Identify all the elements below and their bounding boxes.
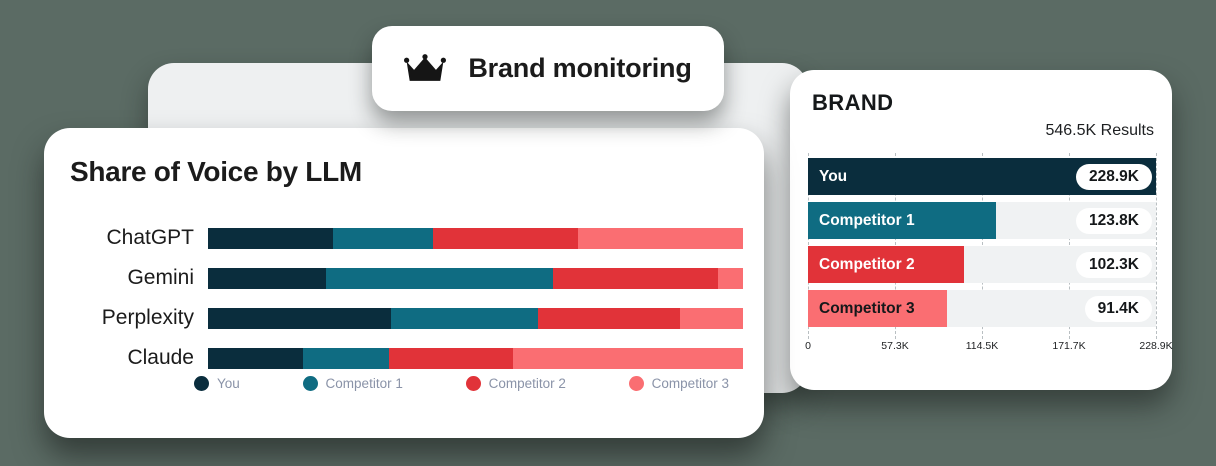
legend-color-dot xyxy=(466,376,481,391)
sov-bar-segment xyxy=(208,348,303,369)
sov-bar-segment xyxy=(718,268,743,289)
crown-icon xyxy=(404,54,446,84)
brand-row-label: Competitor 1 xyxy=(819,212,915,230)
brand-axis: 057.3K114.5K171.7K228.9K xyxy=(808,340,1156,358)
share-of-voice-card: Share of Voice by LLM ChatGPTGeminiPerpl… xyxy=(44,128,764,438)
sov-bar-segment xyxy=(208,268,326,289)
brand-bar-chart: You228.9KCompetitor 1123.8KCompetitor 21… xyxy=(808,158,1156,333)
sov-bar-segment xyxy=(208,228,333,249)
brand-row-value: 91.4K xyxy=(1085,296,1152,322)
sov-row: Perplexity xyxy=(44,298,764,338)
sov-row: Gemini xyxy=(44,258,764,298)
legend-item[interactable]: Competitor 2 xyxy=(466,376,566,391)
brand-row[interactable]: Competitor 2102.3K xyxy=(808,246,1156,283)
legend-color-dot xyxy=(629,376,644,391)
legend-label: You xyxy=(217,376,240,391)
legend-item[interactable]: Competitor 1 xyxy=(303,376,403,391)
brand-axis-tick: 57.3K xyxy=(881,340,908,352)
sov-bar-segment xyxy=(389,348,513,369)
sov-row-label: Gemini xyxy=(44,266,208,290)
sov-bar-segment xyxy=(303,348,389,369)
brand-row-value: 123.8K xyxy=(1076,208,1152,234)
brand-axis-tick: 0 xyxy=(805,340,811,352)
brand-row-label: Competitor 3 xyxy=(819,300,915,318)
brand-row-label: Competitor 2 xyxy=(819,256,915,274)
sov-bar-segment xyxy=(680,308,743,329)
sov-bar-segment xyxy=(513,348,743,369)
legend-item[interactable]: Competitor 3 xyxy=(629,376,729,391)
sov-row-label: ChatGPT xyxy=(44,226,208,250)
brand-card: BRAND 546.5K Results You228.9KCompetitor… xyxy=(790,70,1172,390)
legend-item[interactable]: You xyxy=(194,376,240,391)
sov-bar-segment xyxy=(578,228,743,249)
legend-label: Competitor 3 xyxy=(652,376,729,391)
legend-label: Competitor 2 xyxy=(489,376,566,391)
brand-monitoring-label: Brand monitoring xyxy=(468,53,691,84)
brand-axis-tick: 171.7K xyxy=(1052,340,1085,352)
legend-label: Competitor 1 xyxy=(326,376,403,391)
sov-row: Claude xyxy=(44,338,764,378)
sov-row: ChatGPT xyxy=(44,218,764,258)
brand-results-count: 546.5K Results xyxy=(1045,122,1154,140)
sov-row-label: Perplexity xyxy=(44,306,208,330)
brand-row[interactable]: Competitor 1123.8K xyxy=(808,202,1156,239)
sov-bar-segment xyxy=(326,268,553,289)
brand-row-label: You xyxy=(819,168,847,186)
sov-bar-segment xyxy=(433,228,578,249)
brand-row[interactable]: You228.9K xyxy=(808,158,1156,195)
sov-bar-segment xyxy=(553,268,718,289)
brand-row[interactable]: Competitor 391.4K xyxy=(808,290,1156,327)
brand-row-value: 102.3K xyxy=(1076,252,1152,278)
sov-stacked-bar xyxy=(208,268,743,289)
sov-stacked-bar xyxy=(208,348,743,369)
brand-axis-tick: 114.5K xyxy=(966,340,999,352)
sov-bar-segment xyxy=(391,308,538,329)
legend-color-dot xyxy=(303,376,318,391)
brand-gridline xyxy=(1156,153,1157,339)
sov-stacked-bar xyxy=(208,228,743,249)
sov-rows: ChatGPTGeminiPerplexityClaude xyxy=(44,218,764,378)
legend-color-dot xyxy=(194,376,209,391)
sov-row-label: Claude xyxy=(44,346,208,370)
sov-legend: YouCompetitor 1Competitor 2Competitor 3 xyxy=(194,376,739,391)
brand-card-title: BRAND xyxy=(812,90,893,116)
sov-bar-segment xyxy=(538,308,680,329)
brand-row-value: 228.9K xyxy=(1076,164,1152,190)
sov-bar-segment xyxy=(208,308,391,329)
sov-bar-segment xyxy=(333,228,433,249)
brand-monitoring-badge[interactable]: Brand monitoring xyxy=(372,26,724,111)
composition-stage: Brand monitoring BRAND 546.5K Results Yo… xyxy=(0,0,1216,466)
brand-axis-tick: 228.9K xyxy=(1139,340,1172,352)
sov-stacked-bar xyxy=(208,308,743,329)
page-title: Share of Voice by LLM xyxy=(70,156,362,188)
